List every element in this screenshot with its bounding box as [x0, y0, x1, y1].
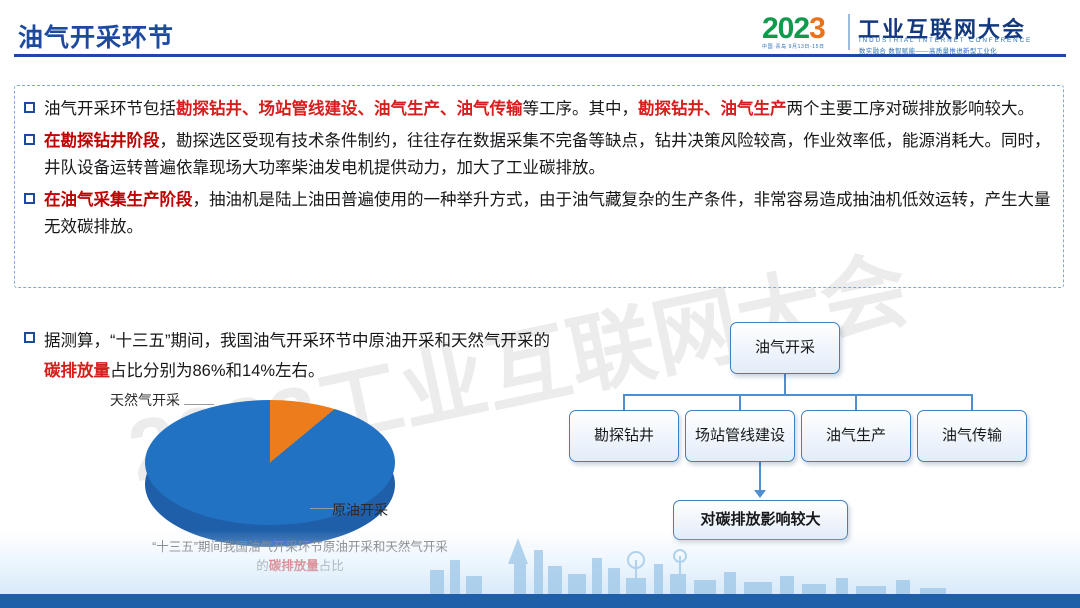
pie-label-natural-gas: 天然气开采 — [110, 390, 180, 410]
logo-english-text: INDUSTRIAL INTERNET CONFERENCE — [859, 37, 1032, 44]
list-item: 在油气采集生产阶段，抽油机是陆上油田普遍使用的一种举升方式，由于油气藏复杂的生产… — [24, 187, 1054, 241]
node-station-pipeline[interactable]: 场站管线建设 — [685, 410, 795, 462]
bullet-list: 油气开采环节包括勘探钻井、场站管线建设、油气生产、油气传输等工序。其中，勘探钻井… — [24, 96, 1054, 246]
bullet-text-1: 油气开采环节包括勘探钻井、场站管线建设、油气生产、油气传输等工序。其中，勘探钻井… — [44, 96, 1044, 123]
emphasis-red-bold: 在油气采集生产阶段 — [44, 191, 193, 209]
square-bullet-icon — [24, 134, 35, 145]
leader-line-oil — [310, 508, 334, 509]
logo-divider — [848, 14, 850, 50]
square-bullet-icon — [24, 193, 35, 204]
square-bullet-icon — [24, 332, 35, 343]
logo-year-highlight: 3 — [809, 12, 825, 45]
node-oil-gas-transport[interactable]: 油气传输 — [917, 410, 1027, 462]
list-item: 油气开采环节包括勘探钻井、场站管线建设、油气生产、油气传输等工序。其中，勘探钻井… — [24, 96, 1054, 123]
text-run: 油气开采环节包括 — [44, 100, 176, 118]
connector-vertical-top — [784, 374, 786, 394]
emphasis-red: 碳排放量 — [44, 362, 110, 380]
connector-down-4 — [971, 394, 973, 410]
emphasis-red-bold: 在勘探钻井阶段 — [44, 132, 160, 150]
emphasis-red: 勘探钻井、场站管线建设、油气生产、油气传输 — [176, 100, 523, 118]
page-title: 油气开采环节 — [18, 18, 174, 54]
list-item: 在勘探钻井阶段，勘探选区受现有技术条件制约，往往存在数据采集不完备等缺点，钻井决… — [24, 128, 1054, 182]
connector-down-2 — [739, 394, 741, 410]
logo-slogan: 数实融合 数智赋能——高质量推进新型工业化 — [859, 46, 997, 55]
logo-year: 2023 — [762, 12, 825, 46]
logo-year-subtitle: 中国·青岛 9月13日-15日 — [762, 43, 825, 50]
arrow-down-icon — [754, 490, 766, 498]
connector-down-1 — [623, 394, 625, 410]
statistics-text: 据测算，“十三五”期间，我国油气开采环节中原油开采和天然气开采的碳排放量占比分别… — [44, 326, 564, 386]
slide: 2023工业互联网大会 油气开采环节 2023 中国·青岛 9月13日-15日 … — [0, 0, 1080, 608]
node-oil-gas-production[interactable]: 油气生产 — [801, 410, 911, 462]
emphasis-red: 勘探钻井、油气生产 — [638, 100, 787, 118]
connector-horizontal — [624, 394, 972, 396]
skyline-graphic — [0, 530, 1080, 596]
connector-down-3 — [855, 394, 857, 410]
text-run: ，勘探选区受现有技术条件制约，往往存在数据采集不完备等缺点，钻井决策风险较高，作… — [44, 132, 1051, 177]
footer-band — [0, 530, 1080, 608]
text-run: 据测算，“十三五”期间，我国油气开采环节中原油开采和天然气开采的 — [44, 332, 550, 350]
node-oil-gas-extraction[interactable]: 油气开采 — [730, 322, 840, 374]
leader-line-gas — [184, 404, 214, 405]
statistics-bullet: 据测算，“十三五”期间，我国油气开采环节中原油开采和天然气开采的碳排放量占比分别… — [24, 326, 564, 386]
process-diagram: 油气开采 勘探钻井 场站管线建设 油气生产 油气传输 对碳排放影响较大 — [545, 310, 1065, 550]
text-run: 两个主要工序对碳排放影响较大。 — [787, 100, 1035, 118]
footer-bar — [0, 594, 1080, 608]
text-run: ，抽油机是陆上油田普遍使用的一种举升方式，由于油气藏复杂的生产条件，非常容易造成… — [44, 191, 1051, 236]
bullet-text-3: 在油气采集生产阶段，抽油机是陆上油田普遍使用的一种举升方式，由于油气藏复杂的生产… — [44, 187, 1054, 241]
text-run: 占比分别为86%和14%左右。 — [110, 362, 325, 380]
conference-logo: 2023 中国·青岛 9月13日-15日 工业互联网大会 INDUSTRIAL … — [762, 10, 1072, 54]
connector-vertical-bottom — [759, 462, 761, 490]
square-bullet-icon — [24, 102, 35, 113]
bullet-text-2: 在勘探钻井阶段，勘探选区受现有技术条件制约，往往存在数据采集不完备等缺点，钻井决… — [44, 128, 1054, 182]
pie-label-crude-oil: 原油开采 — [332, 500, 388, 520]
text-run: 等工序。其中， — [523, 100, 639, 118]
node-exploration-drilling[interactable]: 勘探钻井 — [569, 410, 679, 462]
